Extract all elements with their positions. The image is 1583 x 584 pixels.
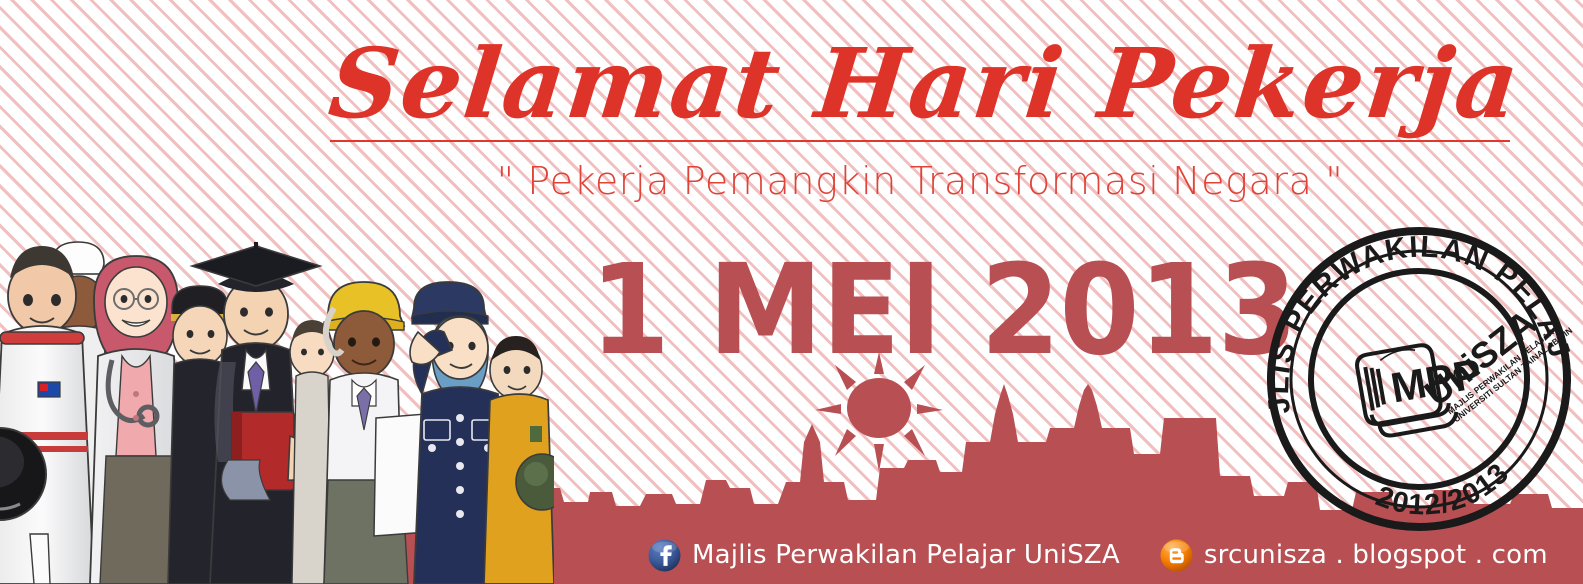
facebook-icon [648, 539, 681, 572]
headline-block: Selamat Hari Pekerja " Pekerja Pemangkin… [330, 34, 1510, 203]
footer-facebook-label: Majlis Perwakilan Pelajar UniSZA [692, 540, 1120, 570]
footer-link-facebook[interactable]: Majlis Perwakilan Pelajar UniSZA [648, 539, 1120, 572]
footer-link-blogger[interactable]: srcunisza . blogspot . com [1160, 539, 1548, 572]
footer-blogger-label: srcunisza . blogspot . com [1204, 540, 1548, 570]
tagline: " Pekerja Pemangkin Transformasi Negara … [330, 159, 1510, 203]
page-title: Selamat Hari Pekerja [325, 34, 1515, 134]
hari-pekerja-banner: Selamat Hari Pekerja " Pekerja Pemangkin… [0, 0, 1583, 584]
title-divider [330, 140, 1510, 142]
blogger-icon [1160, 539, 1193, 572]
event-date: 1 MEI 2013 [590, 248, 1297, 373]
mpp-unisza-stamp: MAJLIS PERWAKILAN PELAJAR 2012/2013 MPP … [1258, 218, 1580, 540]
